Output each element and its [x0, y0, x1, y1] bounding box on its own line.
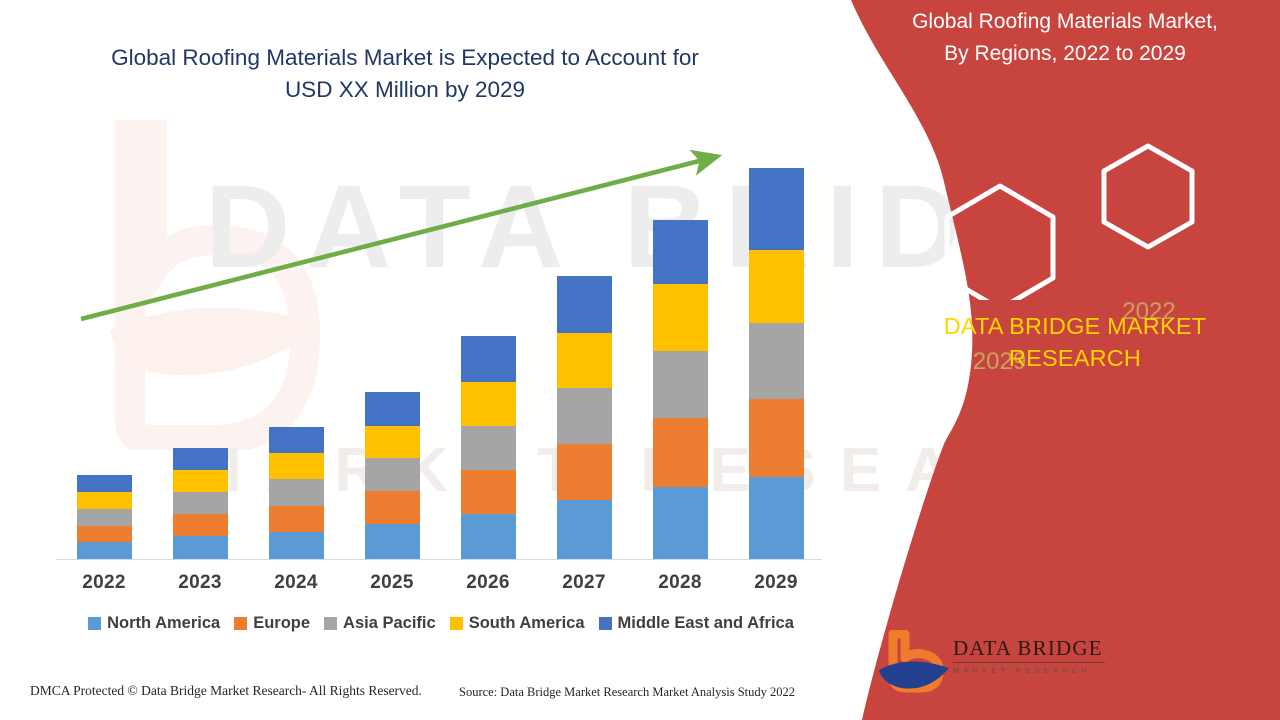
bar-segment [269, 427, 324, 453]
legend-item[interactable]: North America [88, 614, 220, 633]
bar-segment [173, 470, 228, 492]
bar-segment [749, 477, 804, 559]
bar-segment [557, 500, 612, 559]
chart-title: Global Roofing Materials Market is Expec… [60, 42, 750, 106]
bar-column [536, 140, 632, 559]
legend-swatch-icon [450, 617, 463, 630]
x-axis-label: 2026 [440, 572, 536, 602]
stacked-bar [269, 427, 324, 559]
bar-segment [749, 399, 804, 478]
bar-column [344, 140, 440, 559]
panel-title: Global Roofing Materials Market, By Regi… [850, 0, 1280, 70]
hexagon-2022-shape [1104, 146, 1192, 247]
stacked-bar [173, 448, 228, 559]
panel-title-line-2: By Regions, 2022 to 2029 [850, 38, 1280, 70]
bar-segment [269, 506, 324, 532]
bar-segment [77, 542, 132, 559]
bar-segment [365, 458, 420, 490]
infographic-canvas: DATA BRIDGE MARKET RESEARCH Global Roofi… [0, 0, 1280, 720]
bar-column [152, 140, 248, 559]
x-axis-label: 2022 [56, 572, 152, 602]
logo-main-text: DATA BRIDGE [953, 636, 1105, 661]
legend-item[interactable]: Asia Pacific [324, 614, 436, 633]
bar-segment [653, 351, 708, 418]
stacked-bar [557, 276, 612, 559]
bar-column [248, 140, 344, 559]
source-note: Source: Data Bridge Market Research Mark… [459, 685, 795, 700]
bar-segment [173, 536, 228, 559]
bar-segment [749, 323, 804, 398]
bar-segment [461, 336, 516, 382]
x-axis-label: 2029 [728, 572, 824, 602]
x-axis-labels: 20222023202420252026202720282029 [56, 572, 824, 602]
brand-name: DATA BRIDGE MARKET RESEARCH [865, 310, 1280, 374]
logo-sub-text: MARKET RESEARCH [953, 666, 1105, 675]
bar-segment [653, 487, 708, 559]
bar-column [56, 140, 152, 559]
bar-segment [557, 444, 612, 501]
bar-segment [269, 532, 324, 559]
x-axis-label: 2028 [632, 572, 728, 602]
stacked-bar [461, 336, 516, 559]
bar-segment [557, 388, 612, 444]
legend-item[interactable]: Middle East and Africa [599, 614, 794, 633]
data-bridge-logo: DATA BRIDGE MARKET RESEARCH [875, 630, 1115, 700]
copyright-notice: DMCA Protected © Data Bridge Market Rese… [30, 683, 422, 699]
bar-segment [461, 426, 516, 470]
bar-segment [173, 492, 228, 514]
bar-segment [173, 514, 228, 536]
bar-segment [365, 524, 420, 559]
stacked-bar [365, 392, 420, 559]
bar-segment [653, 284, 708, 351]
chart-title-line-2: USD XX Million by 2029 [60, 74, 750, 106]
bar-segment [77, 509, 132, 526]
stacked-bar-chart [56, 140, 824, 559]
x-axis-line [56, 559, 822, 560]
legend-swatch-icon [88, 617, 101, 630]
legend-label: North America [107, 614, 220, 633]
x-axis-label: 2025 [344, 572, 440, 602]
bar-segment [653, 418, 708, 487]
bar-segment [269, 479, 324, 505]
hexagon-2029-shape [947, 186, 1053, 300]
legend-swatch-icon [234, 617, 247, 630]
legend-label: Middle East and Africa [618, 614, 794, 633]
bar-segment [653, 220, 708, 284]
legend-label: Europe [253, 614, 310, 633]
stacked-bar [653, 220, 708, 559]
bar-segment [77, 492, 132, 509]
legend-label: South America [469, 614, 585, 633]
bar-segment [77, 475, 132, 492]
logo-divider [953, 662, 1105, 663]
bar-segment [557, 333, 612, 389]
legend-item[interactable]: South America [450, 614, 585, 633]
legend-label: Asia Pacific [343, 614, 436, 633]
bar-segment [461, 514, 516, 559]
bar-column [440, 140, 536, 559]
hexagon-badges: 2022 2029 [920, 130, 1250, 300]
bar-segment [365, 392, 420, 426]
bar-segment [749, 250, 804, 323]
panel-content: Global Roofing Materials Market, By Regi… [940, 0, 1280, 720]
hexagon-outlines-icon [920, 130, 1250, 300]
bar-segment [557, 276, 612, 333]
legend-item[interactable]: Europe [234, 614, 310, 633]
panel-title-line-1: Global Roofing Materials Market, [850, 6, 1280, 38]
bar-segment [269, 453, 324, 479]
bar-segment [461, 382, 516, 426]
brand-name-line-2: RESEARCH [865, 342, 1280, 374]
legend-swatch-icon [324, 617, 337, 630]
stacked-bar [749, 168, 804, 559]
chart-legend: North AmericaEuropeAsia PacificSouth Ame… [56, 614, 826, 633]
x-axis-label: 2023 [152, 572, 248, 602]
brand-name-line-1: DATA BRIDGE MARKET [865, 310, 1280, 342]
data-bridge-logo-icon [875, 630, 953, 694]
bar-column [632, 140, 728, 559]
x-axis-label: 2024 [248, 572, 344, 602]
bar-segment [365, 426, 420, 458]
stacked-bar [77, 475, 132, 559]
legend-swatch-icon [599, 617, 612, 630]
bar-segment [173, 448, 228, 470]
bar-segment [461, 470, 516, 514]
bar-column [728, 140, 824, 559]
x-axis-label: 2027 [536, 572, 632, 602]
bar-segment [77, 526, 132, 543]
bar-segment [749, 168, 804, 250]
bar-segment [365, 491, 420, 525]
chart-title-line-1: Global Roofing Materials Market is Expec… [60, 42, 750, 74]
logo-wordmark: DATA BRIDGE MARKET RESEARCH [953, 636, 1105, 675]
